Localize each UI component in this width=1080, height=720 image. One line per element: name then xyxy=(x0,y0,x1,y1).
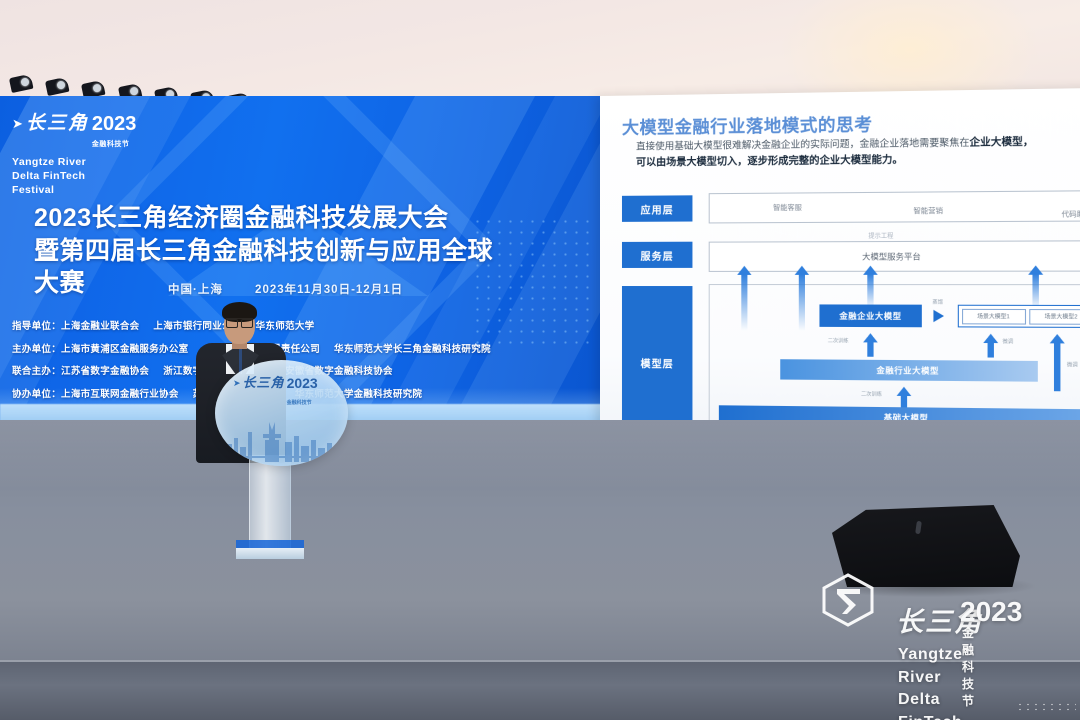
model-to-service-arrow-stem xyxy=(799,274,805,331)
model-to-service-arrow-head xyxy=(795,266,809,275)
scene-model-2: 场景大模型2 xyxy=(1029,308,1080,324)
fine-tune-arrow-2 xyxy=(1050,334,1065,343)
scene-model-1: 场景大模型1 xyxy=(961,308,1025,324)
sponsor-row-label: 联合主办： xyxy=(12,366,61,377)
watermark-en: Yangtze River Delta FinTech Festival xyxy=(898,644,963,720)
podium-skyline-graphic xyxy=(225,420,338,462)
floor-sheen xyxy=(0,420,1080,490)
podium-logo-cn: 长三角 xyxy=(243,376,285,389)
model-to-service-arrow-stem xyxy=(867,274,873,309)
scene-models-group: 场景大模型1 场景大模型2 xyxy=(958,305,1080,328)
model-to-service-arrow-stem xyxy=(741,274,747,331)
sponsor-row-label: 主办单位： xyxy=(12,344,61,355)
application-item-1: 智能客服 xyxy=(752,200,824,215)
enterprise-model-box: 金融企业大模型 xyxy=(819,304,921,327)
secondary-train-label-1: 二次训练 xyxy=(828,337,849,344)
watermark-dot-accent xyxy=(1016,702,1076,712)
sponsor-org: 上海金融业联合会 xyxy=(61,321,139,332)
layer-tag-service: 服务层 xyxy=(622,242,692,268)
podium-front-panel: ➤ 长三角 2023 金融科技节 xyxy=(215,360,348,466)
fine-tune-label-1: 微调 xyxy=(1002,338,1013,345)
event-location: 中国·上海 xyxy=(168,284,223,296)
model-to-service-arrow-stem xyxy=(1032,274,1038,309)
distill-arrow-icon xyxy=(933,310,944,322)
sponsor-row-label: 协办单位： xyxy=(12,389,61,400)
festival-mark-icon xyxy=(820,572,876,628)
application-item-3: 代码助手 xyxy=(1045,207,1080,222)
service-platform-label: 大模型服务平台 xyxy=(834,249,949,264)
presentation-screen: 大模型金融行业落地模式的思考 直接使用基础大模型很难解决金融企业的实际问题，金融… xyxy=(600,88,1080,474)
podium-logo: ➤ 长三角 2023 金融科技节 xyxy=(233,376,318,408)
festival-logo-cn: 长三角 xyxy=(26,114,89,133)
podium-column xyxy=(249,455,291,550)
slide-body-line-1: 直接使用基础大模型很难解决金融企业的实际问题，金融企业落地需要聚焦在 xyxy=(636,138,969,153)
model-to-service-arrow-head xyxy=(863,266,878,275)
fine-tune-stem-1 xyxy=(988,343,994,358)
sponsor-org: 上海市互联网金融行业协会 xyxy=(61,389,179,400)
secondary-train-arrow-1 xyxy=(863,333,878,342)
festival-logo-year: 2023 xyxy=(92,113,137,135)
podium-logo-arrow-icon: ➤ xyxy=(233,376,241,390)
sponsor-row-label: 指导单位： xyxy=(12,321,61,332)
industry-model-band: 金融行业大模型 xyxy=(780,359,1038,382)
festival-logo-en-1: Yangtze River xyxy=(12,156,136,170)
slide-body-line-2: 可以由场景大模型切入，逐步形成完整的企业大模型能力。 xyxy=(636,154,903,168)
podium-base xyxy=(236,548,304,559)
watermark-en-1: Yangtze River xyxy=(898,644,963,689)
sponsor-row: 指导单位：上海金融业联合会上海市银行同业公会华东师范大学 xyxy=(12,318,592,332)
event-dates: 2023年11月30日-12月1日 xyxy=(255,284,403,296)
secondary-train-arrow-2 xyxy=(897,387,912,396)
service-prompt-eng-label: 提示工程 xyxy=(850,229,913,242)
model-to-service-arrow-head xyxy=(737,266,751,275)
sponsor-row: 主办单位：上海市黄浦区金融服务办公室《金融时报》有限责任公司华东师范大学长三角金… xyxy=(12,341,592,355)
secondary-train-label-2: 二次训练 xyxy=(861,390,882,397)
festival-logo-en-2: Delta FinTech xyxy=(12,170,136,184)
logo-arrow-icon: ➤ xyxy=(12,114,23,134)
layer-tag-application: 应用层 xyxy=(622,195,692,222)
layer-tag-model: 模型层 xyxy=(622,286,692,439)
secondary-train-stem-1 xyxy=(867,342,873,356)
sponsor-org: 华东师范大学长三角金融科技研究院 xyxy=(334,344,491,355)
podium-logo-sub: 金融科技节 xyxy=(287,400,312,406)
fine-tune-label-2: 微调 xyxy=(1067,361,1078,368)
event-title-line-1: 2023长三角经济圈金融科技发展大会 xyxy=(34,202,504,235)
sponsor-org: 江苏省数字金融协会 xyxy=(61,366,149,377)
slide-body-line-1-bold: 企业大模型， xyxy=(969,137,1033,149)
sponsor-org: 上海市黄浦区金融服务办公室 xyxy=(61,344,188,355)
model-to-service-arrow-head xyxy=(1028,265,1043,274)
conference-stage-photo: ➤ 长三角 2023 金融科技节 Yangtze River Delta Fin… xyxy=(0,0,1080,720)
event-meta: 中国·上海 2023年11月30日-12月1日 xyxy=(168,281,403,297)
fine-tune-arrow-1 xyxy=(983,334,998,343)
watermark-sub: 金融科技节 xyxy=(962,624,975,709)
slide-title: 大模型金融行业落地模式的思考 xyxy=(622,110,873,139)
festival-logo-en-3: Festival xyxy=(12,184,136,198)
watermark-en-2: Delta FinTech xyxy=(898,689,963,720)
fine-tune-stem-2 xyxy=(1054,343,1060,391)
distill-arrow-label: 蒸馏 xyxy=(932,298,943,305)
festival-logo-sub: 金融科技节 xyxy=(92,141,130,148)
festival-logo: ➤ 长三角 2023 金融科技节 Yangtze River Delta Fin… xyxy=(12,114,136,198)
sponsor-org: 华东师范大学 xyxy=(256,321,315,332)
slide-body: 直接使用基础大模型很难解决金融企业的实际问题，金融企业落地需要聚焦在企业大模型，… xyxy=(636,134,1080,171)
podium-logo-year: 2023 xyxy=(287,375,318,391)
speaker-glasses xyxy=(226,318,253,325)
application-item-2: 智能营销 xyxy=(891,204,965,219)
